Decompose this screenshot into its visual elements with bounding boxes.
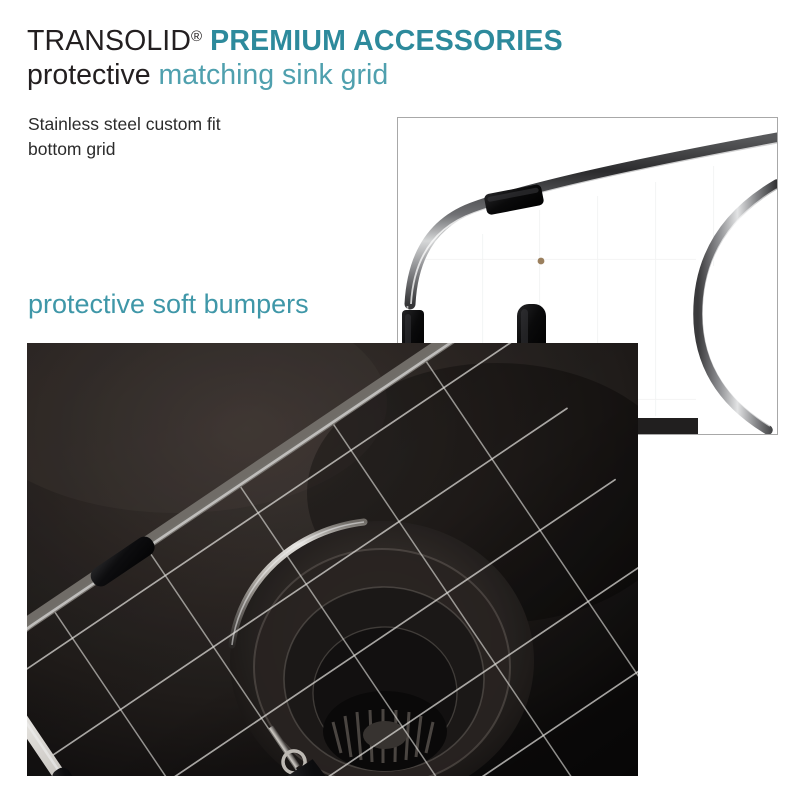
description-line-2: bottom grid: [28, 137, 358, 162]
subtitle-highlight: matching sink grid: [158, 59, 388, 91]
page-subtitle: protective matching sink grid: [27, 56, 388, 94]
description-line-1: Stainless steel custom fit: [28, 114, 221, 134]
headline-emphasis: PREMIUM ACCESSORIES: [210, 25, 563, 57]
main-product-photo: [27, 343, 638, 776]
product-marketing-page: TRANSOLID® PREMIUM ACCESSORIES protectiv…: [0, 0, 800, 800]
product-description: Stainless steel custom fit bottom grid: [28, 112, 358, 162]
bumpers-caption: protective soft bumpers: [28, 287, 309, 321]
registered-trademark-icon: ®: [191, 28, 202, 45]
brand-label: TRANSOLID: [27, 25, 191, 57]
brand-name: TRANSOLID®: [27, 25, 202, 57]
subtitle-prefix: protective: [27, 59, 151, 91]
page-title: TRANSOLID® PREMIUM ACCESSORIES: [27, 18, 767, 60]
